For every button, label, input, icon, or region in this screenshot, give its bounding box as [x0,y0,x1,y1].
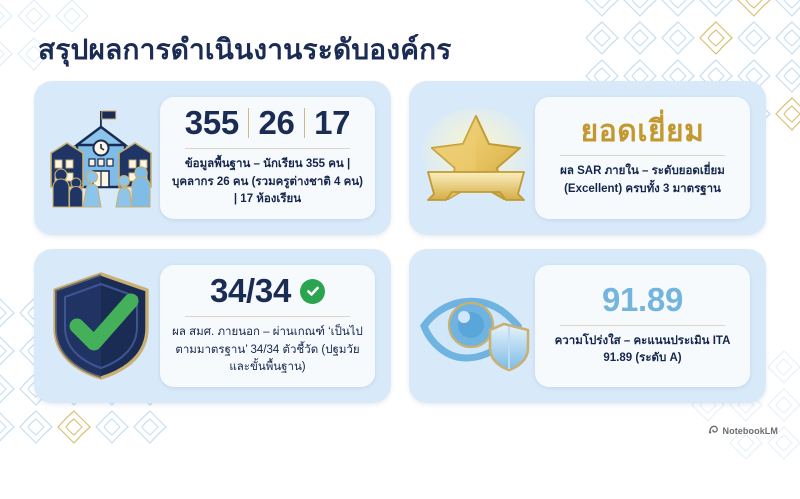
shield-check-icon [42,267,160,385]
stat-indicator-ratio: 34/34 [210,274,291,309]
gold-star-ribbon-icon [417,99,535,217]
stat-ita-score: 91.89 [602,283,683,318]
card-sar-internal[interactable]: ยอดเยี่ยม ผล SAR ภายใน – ระดับยอดเยี่ยม … [409,81,766,235]
footer-label: NotebookLM [723,426,779,436]
stat-classrooms: 17 [314,106,350,141]
stat-divider [304,108,306,138]
summary-card-grid: 355 26 17 ข้อมูลพื้นฐาน – นักเรียน 355 ค… [34,81,766,403]
school-building-icon [42,99,160,217]
stat-basic-info: 355 26 17 [185,106,350,141]
card-ita-transparency[interactable]: 91.89 ความโปร่งใส – คะแนนประเมิน ITA 91.… [409,249,766,403]
panel-divider [560,155,724,156]
caption-sar-internal: ผล SAR ภายใน – ระดับยอดเยี่ยม (Excellent… [547,163,738,199]
card-panel-sar-internal: ยอดเยี่ยม ผล SAR ภายใน – ระดับยอดเยี่ยม … [535,97,750,219]
panel-divider [185,316,349,317]
caption-basic-info: ข้อมูลพื้นฐาน – นักเรียน 355 คน | บุคลาก… [172,156,363,209]
notebooklm-logo-icon [708,422,719,440]
stat-students: 355 [185,106,239,141]
panel-divider [185,148,349,149]
stat-divider [248,108,250,138]
panel-divider [560,325,724,326]
page-title: สรุปผลการดำเนินงานระดับองค์กร [38,32,766,67]
stat-sar-internal: ยอดเยี่ยม [581,116,705,148]
card-onesqa-external[interactable]: 34/34 ผล สมศ. ภายนอก – ผ่านเกณฑ์ ‘เป็นไป… [34,249,391,403]
card-basic-info[interactable]: 355 26 17 ข้อมูลพื้นฐาน – นักเรียน 355 ค… [34,81,391,235]
card-panel-basic-info: 355 26 17 ข้อมูลพื้นฐาน – นักเรียน 355 ค… [160,97,375,219]
card-panel-ita-transparency: 91.89 ความโปร่งใส – คะแนนประเมิน ITA 91.… [535,265,750,387]
green-check-badge [300,279,325,304]
caption-ita-transparency: ความโปร่งใส – คะแนนประเมิน ITA 91.89 (ระ… [547,333,738,369]
caption-onesqa-external: ผล สมศ. ภายนอก – ผ่านเกณฑ์ ‘เป็นไปตามมาต… [172,324,363,377]
stat-staff: 26 [258,106,294,141]
eye-shield-icon [417,267,535,385]
footer-attribution: NotebookLM [708,422,779,440]
slide-root: สรุปผลการดำเนินงานระดับองค์กร [0,0,800,449]
card-panel-onesqa-external: 34/34 ผล สมศ. ภายนอก – ผ่านเกณฑ์ ‘เป็นไป… [160,265,375,387]
stat-onesqa-external: 34/34 [210,274,325,309]
